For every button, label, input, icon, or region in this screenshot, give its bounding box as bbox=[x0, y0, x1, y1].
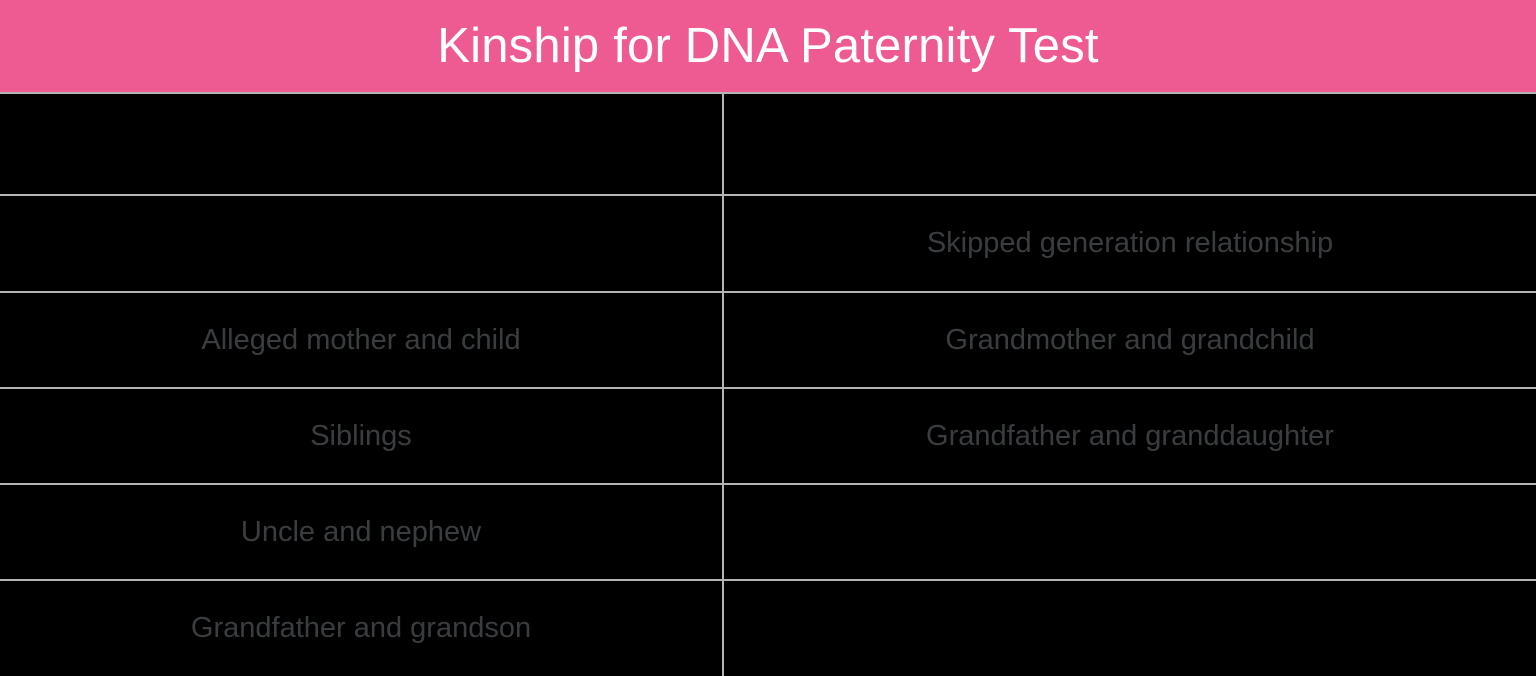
cell-right-text: Skipped generation relationship bbox=[736, 226, 1524, 261]
table-row: Siblings Grandfather and granddaughter bbox=[0, 388, 1536, 484]
cell-right: Grandmother and grandchild bbox=[723, 292, 1536, 388]
column-header-right bbox=[723, 93, 1536, 195]
table-row: Uncle and nephew bbox=[0, 484, 1536, 580]
page-title: Kinship for DNA Paternity Test bbox=[437, 22, 1098, 71]
cell-left bbox=[0, 195, 723, 292]
cell-right-text: Grandmother and grandchild bbox=[736, 323, 1524, 358]
column-header-left bbox=[0, 93, 723, 195]
cell-left: Siblings bbox=[0, 388, 723, 484]
table-row: Skipped generation relationship bbox=[0, 195, 1536, 292]
cell-left: Uncle and nephew bbox=[0, 484, 723, 580]
table-header-row bbox=[0, 93, 1536, 195]
table-row: Alleged mother and child Grandmother and… bbox=[0, 292, 1536, 388]
cell-left-text: Uncle and nephew bbox=[12, 515, 710, 550]
cell-right bbox=[723, 580, 1536, 676]
cell-right-text: Grandfather and granddaughter bbox=[736, 419, 1524, 454]
table-row: Grandfather and grandson bbox=[0, 580, 1536, 676]
cell-left-text: Siblings bbox=[12, 419, 710, 454]
page-root: Kinship for DNA Paternity Test Skipped g… bbox=[0, 0, 1536, 674]
cell-right bbox=[723, 484, 1536, 580]
cell-left-text: Alleged mother and child bbox=[12, 323, 710, 358]
cell-left: Grandfather and grandson bbox=[0, 580, 723, 676]
kinship-table: Skipped generation relationship Alleged … bbox=[0, 92, 1536, 676]
title-banner: Kinship for DNA Paternity Test bbox=[0, 0, 1536, 92]
cell-left: Alleged mother and child bbox=[0, 292, 723, 388]
cell-right: Skipped generation relationship bbox=[723, 195, 1536, 292]
cell-right: Grandfather and granddaughter bbox=[723, 388, 1536, 484]
cell-left-text: Grandfather and grandson bbox=[12, 611, 710, 646]
